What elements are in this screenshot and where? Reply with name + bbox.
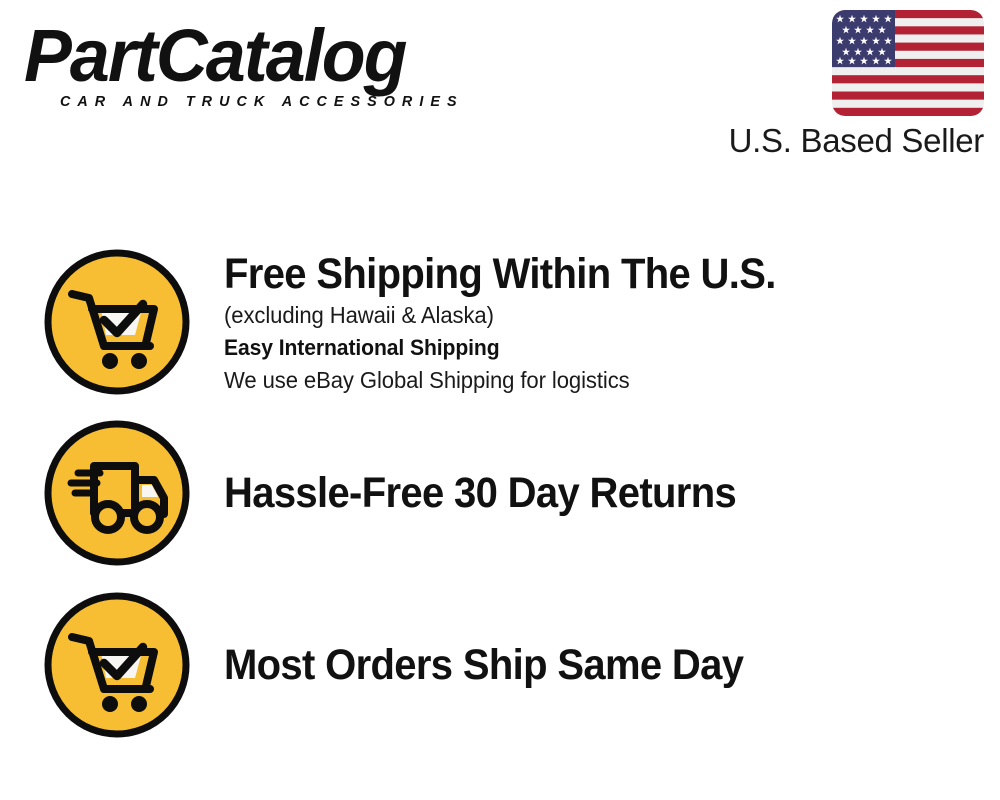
feature-row: Free Shipping Within The U.S. (excluding… — [0, 247, 1000, 397]
brand-tagline: CAR AND TRUCK ACCESSORIES — [60, 94, 464, 110]
feature-subnote: (excluding Hawaii & Alaska) — [224, 299, 950, 331]
feature-text-block: Most Orders Ship Same Day — [224, 640, 1000, 690]
feature-headline: Free Shipping Within The U.S. — [224, 249, 927, 299]
us-based-seller-badge: U.S. Based Seller — [686, 10, 986, 159]
feature-text-block: Free Shipping Within The U.S. (excluding… — [224, 249, 1000, 396]
feature-row: Most Orders Ship Same Day — [0, 590, 1000, 740]
feature-subtitle: Easy International Shipping — [224, 331, 950, 364]
shopping-cart-check-icon — [42, 247, 192, 397]
us-flag-icon — [832, 10, 984, 116]
feature-subdetail: We use eBay Global Shipping for logistic… — [224, 364, 950, 396]
seller-label: U.S. Based Seller — [686, 123, 984, 159]
delivery-truck-icon — [42, 418, 192, 568]
feature-row: Hassle-Free 30 Day Returns — [0, 418, 1000, 568]
feature-text-block: Hassle-Free 30 Day Returns — [224, 468, 1000, 518]
brand-logo[interactable]: PartCatalog CAR AND TRUCK ACCESSORIES — [24, 18, 494, 113]
shopping-cart-check-icon — [42, 590, 192, 740]
page-header: PartCatalog CAR AND TRUCK ACCESSORIES — [0, 0, 1000, 175]
feature-headline: Hassle-Free 30 Day Returns — [224, 468, 927, 518]
feature-headline: Most Orders Ship Same Day — [224, 640, 927, 690]
brand-wordmark: PartCatalog — [24, 18, 480, 94]
